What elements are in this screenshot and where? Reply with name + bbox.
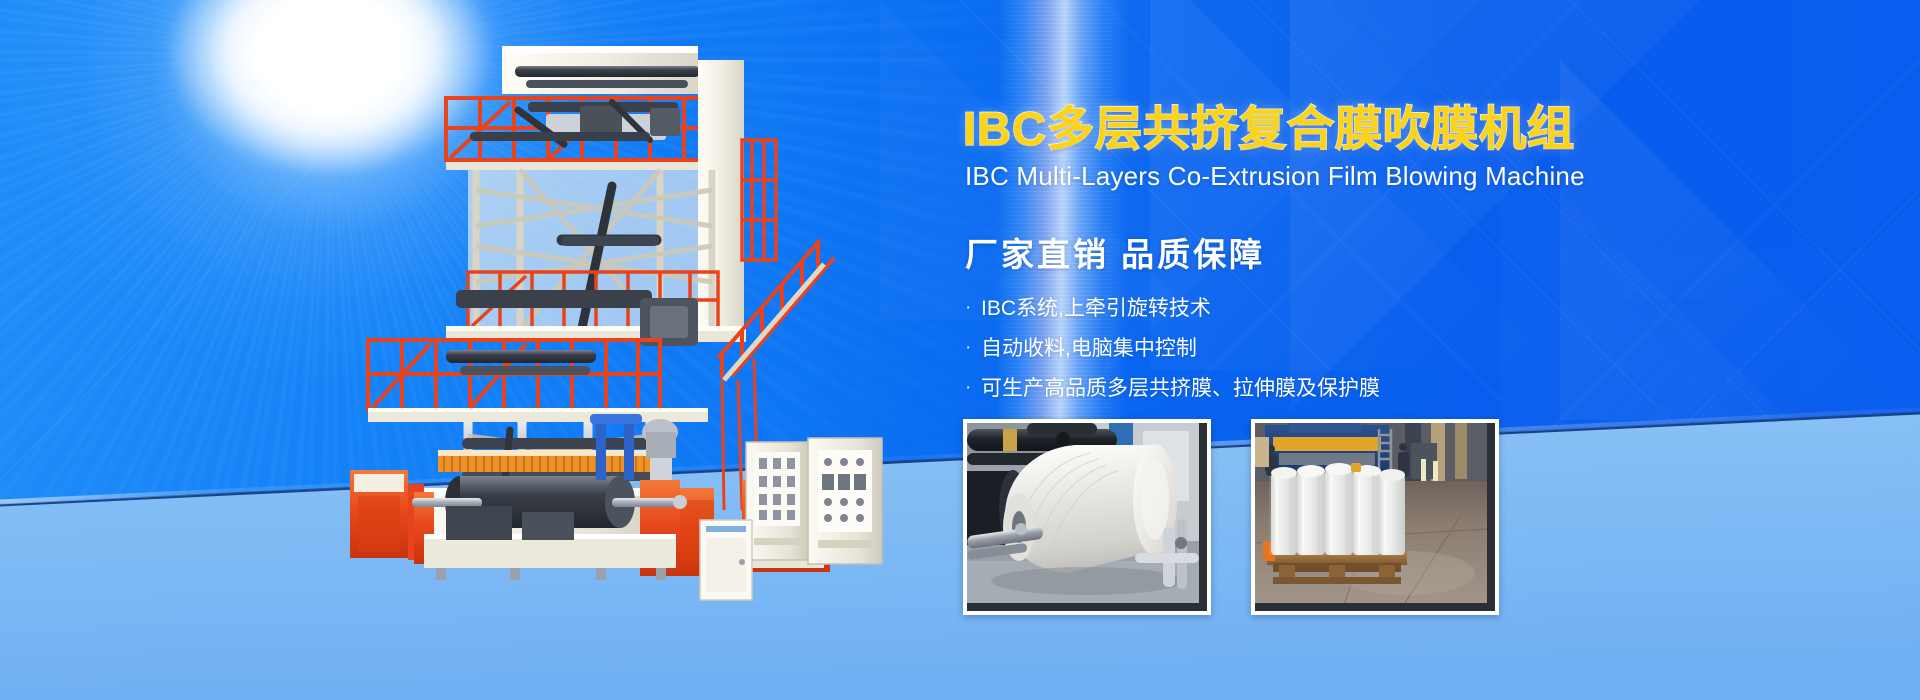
list-item: ·IBC系统,上牵引旋转技术 [965,298,1863,319]
feature-text: IBC系统,上牵引旋转技术 [981,297,1211,320]
feature-text: 自动收料,电脑集中控制 [981,337,1197,360]
bullet-dot-icon: · [965,298,981,317]
bullet-dot-icon: · [965,338,981,357]
page-title-en: IBC Multi-Layers Co-Extrusion Film Blowi… [965,161,1863,192]
film-blowing-machine-photo [350,40,910,630]
promo-banner: IBC多层共挤复合膜吹膜机组 IBC Multi-Layers Co-Extru… [0,0,1920,700]
film-roll-photo [963,419,1211,615]
film-roll-photo-inner [967,423,1207,611]
headline-text-block: IBC多层共挤复合膜吹膜机组 IBC Multi-Layers Co-Extru… [963,104,1863,418]
page-title-cn: IBC多层共挤复合膜吹膜机组 [963,104,1863,155]
stretch-film-pallet-photo [1251,419,1499,615]
bullet-dot-icon: · [965,378,981,397]
slogan-text: 厂家直销 品质保障 [965,228,1863,276]
feature-list: ·IBC系统,上牵引旋转技术 ·自动收料,电脑集中控制 ·可生产高品质多层共挤膜… [965,298,1863,399]
list-item: ·自动收料,电脑集中控制 [965,338,1863,359]
list-item: ·可生产高品质多层共挤膜、拉伸膜及保护膜 [965,378,1863,399]
feature-text: 可生产高品质多层共挤膜、拉伸膜及保护膜 [981,377,1380,400]
stretch-film-pallet-photo-inner [1255,423,1495,611]
